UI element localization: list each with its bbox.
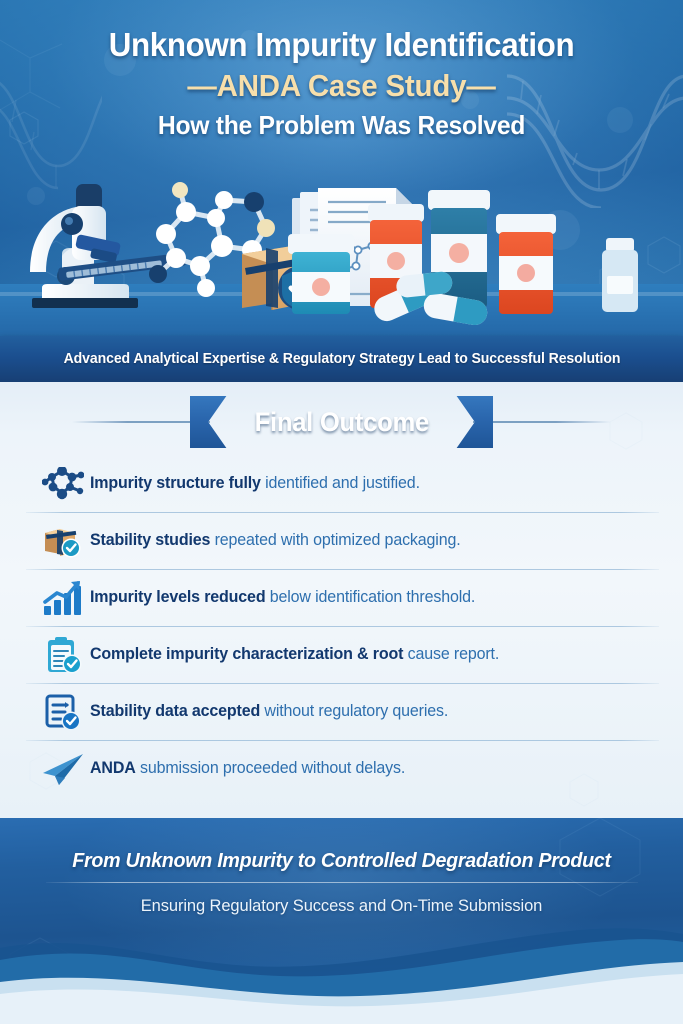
ribbon-rule-right (473, 421, 611, 423)
list-item-bold: Impurity structure fully (90, 474, 261, 492)
list-item-bold: Stability studies (90, 531, 210, 549)
title-dash-right: — (466, 68, 495, 103)
list-item-text: Impurity levels reduced below identifica… (90, 588, 475, 607)
list-item-text: Stability data accepted without regulato… (90, 702, 448, 721)
molecule-icon (36, 461, 90, 507)
microscope-illustration (30, 184, 187, 308)
list-item-text: Stability studies repeated with optimize… (90, 531, 461, 550)
page-title-line2: —ANDA Case Study— (17, 68, 666, 104)
header-section: Unknown Impurity Identification —ANDA Ca… (0, 0, 683, 336)
hero-objects (0, 176, 683, 336)
list-item[interactable]: Stability data accepted without regulato… (0, 683, 683, 740)
list-item-bold: Impurity levels reduced (90, 588, 265, 606)
list-item-text: ANDA submission proceeded without delays… (90, 759, 405, 778)
hero-illustration (0, 176, 683, 336)
small-vial-illustration (602, 238, 638, 312)
paper-plane-icon (36, 746, 90, 792)
subtitle-banner: Advanced Analytical Expertise & Regulato… (0, 336, 683, 382)
title-block: Unknown Impurity Identification —ANDA Ca… (0, 0, 683, 141)
clipboard-check-icon (36, 632, 90, 678)
page-title-line1: Unknown Impurity Identification (17, 26, 666, 64)
list-item-rest: repeated with optimized packaging. (210, 531, 460, 549)
footer-divider (46, 882, 638, 883)
growth-chart-icon (36, 575, 90, 621)
list-item-bold: ANDA (90, 759, 136, 777)
footer-section: From Unknown Impurity to Controlled Degr… (0, 818, 683, 1024)
list-item-rest: without regulatory queries. (260, 702, 448, 720)
list-item-text: Impurity structure fully identified and … (90, 474, 420, 493)
list-item[interactable]: Complete impurity characterization & roo… (0, 626, 683, 683)
package-check-icon (36, 518, 90, 564)
infographic-poster: Unknown Impurity Identification —ANDA Ca… (0, 0, 683, 1024)
footer-subline: Ensuring Regulatory Success and On-Time … (10, 896, 673, 916)
list-item-bold: Complete impurity characterization & roo… (90, 645, 403, 663)
list-item-rest: submission proceeded without delays. (136, 759, 406, 777)
list-item-rest: cause report. (403, 645, 499, 663)
list-item[interactable]: Impurity structure fully identified and … (0, 455, 683, 512)
footer-headline: From Unknown Impurity to Controlled Degr… (14, 849, 670, 873)
section-ribbon: Final Outcome (0, 396, 683, 448)
list-item-rest: identified and justified. (261, 474, 420, 492)
ribbon-label-wrap: Final Outcome (190, 396, 493, 448)
list-item-bold: Stability data accepted (90, 702, 260, 720)
title-accent-text: ANDA Case Study (217, 68, 467, 103)
banner-text: Advanced Analytical Expertise & Regulato… (63, 351, 620, 367)
title-dash-left: — (187, 68, 216, 103)
wave-decoration (0, 914, 683, 1024)
outcomes-list: Impurity structure fully identified and … (0, 455, 683, 797)
list-item[interactable]: Stability studies repeated with optimize… (0, 512, 683, 569)
section-title: Final Outcome (254, 407, 428, 438)
list-item[interactable]: Impurity levels reduced below identifica… (0, 569, 683, 626)
list-item-rest: below identification threshold. (265, 588, 475, 606)
page-title-line3: How the Problem Was Resolved (17, 110, 666, 141)
footer-text-block: From Unknown Impurity to Controlled Degr… (0, 818, 683, 916)
list-item[interactable]: ANDA submission proceeded without delays… (0, 740, 683, 797)
document-check-icon (36, 689, 90, 735)
list-item-text: Complete impurity characterization & roo… (90, 645, 499, 664)
